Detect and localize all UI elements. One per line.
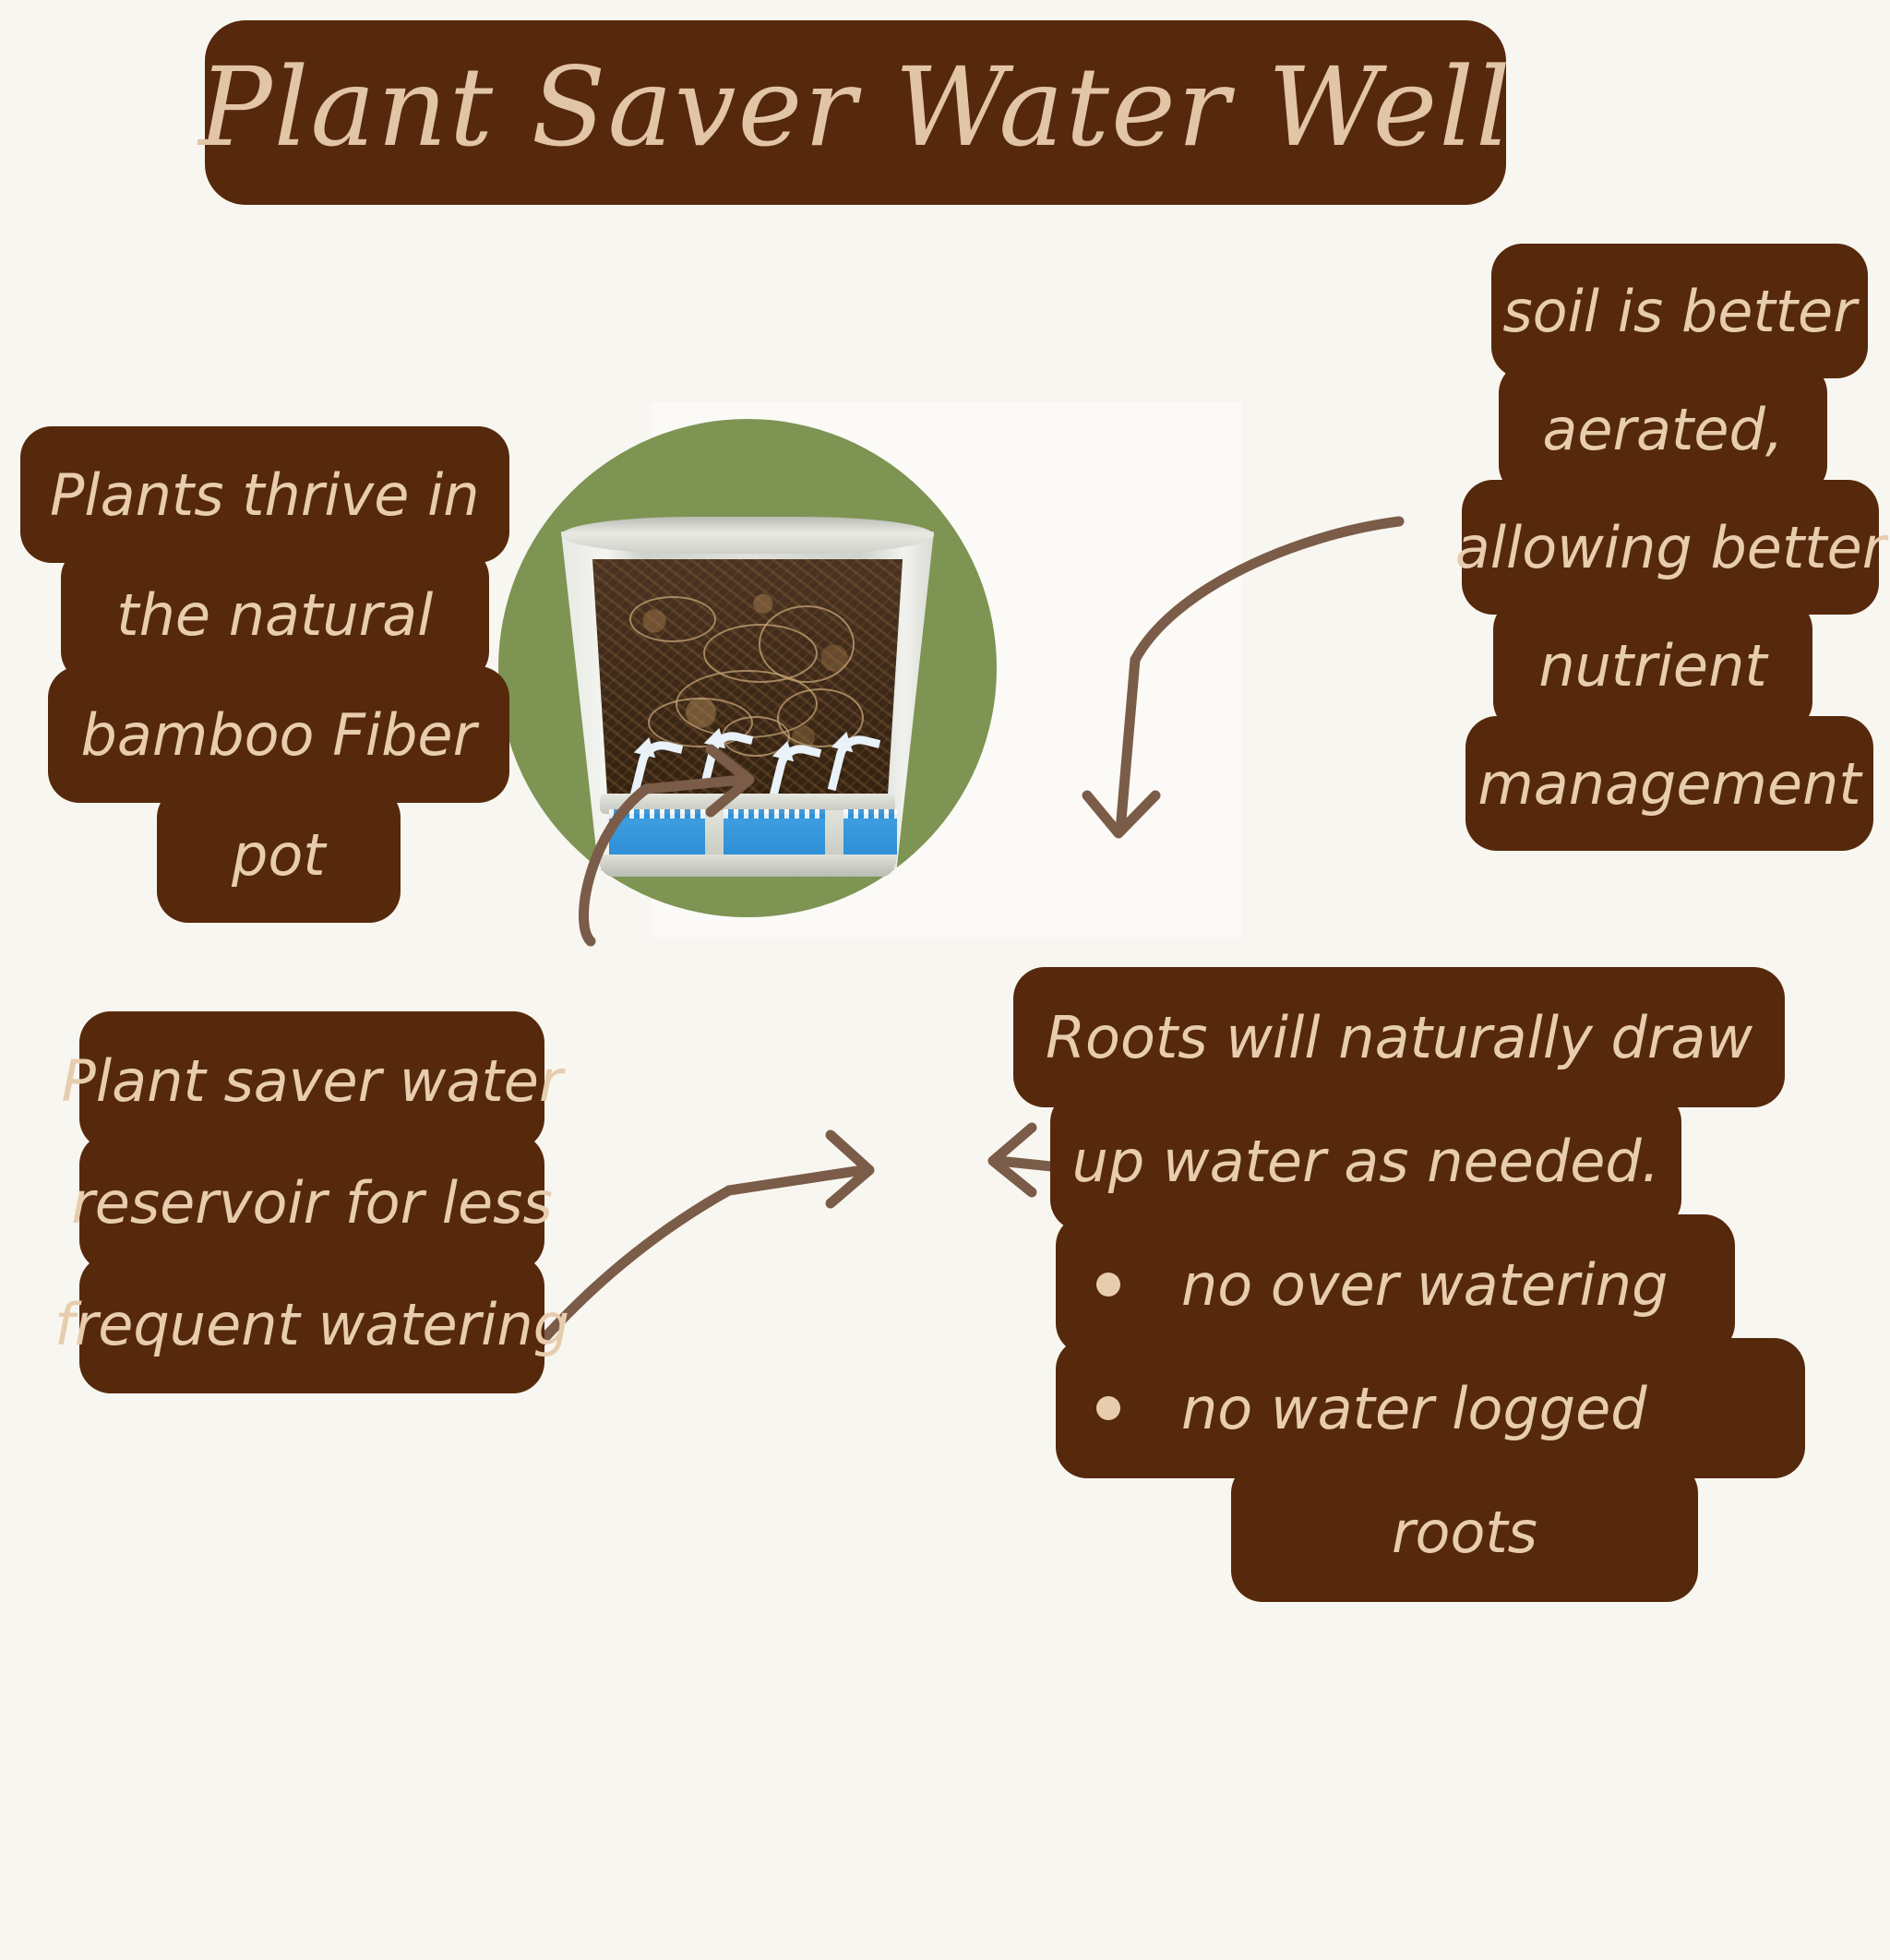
callout-line: roots [1231, 1462, 1698, 1602]
callout-bullet-item: no over watering [1056, 1214, 1735, 1355]
arrow-to-reservoir-left-head [831, 1135, 869, 1203]
root-strand [629, 596, 716, 642]
callout-line: soil is better [1491, 244, 1868, 378]
callout-line: Plants thrive in [20, 426, 509, 563]
callout-line: bamboo Fiber [48, 666, 509, 803]
soil-with-roots [592, 559, 903, 807]
callout-line: pot [157, 786, 401, 923]
callout-line: the natural [61, 546, 489, 683]
water-uptake-arrow [828, 731, 880, 798]
bullet-dot-icon [1096, 1396, 1120, 1420]
callout-roots-draw-water: Roots will naturally draw up water as ne… [1013, 967, 1805, 1602]
arrow-to-reservoir-left-shaft [729, 1170, 863, 1190]
page-title: Plant Saver Water Well [198, 53, 1513, 161]
callout-line: frequent watering [79, 1255, 544, 1393]
callout-line: up water as needed. [1050, 1091, 1681, 1231]
pot-base [598, 855, 897, 877]
callout-line: management [1465, 716, 1873, 851]
water-uptake-arrow [700, 727, 753, 795]
title-banner: Plant Saver Water Well [205, 20, 1506, 205]
callout-line: nutrient [1493, 598, 1812, 733]
callout-line: Plant saver water [79, 1011, 544, 1150]
pot-cross-section-illustration [561, 517, 934, 877]
callout-water-reservoir: Plant saver water reservoir for less fre… [79, 1011, 544, 1393]
water-reservoir-section [724, 814, 825, 856]
water-reservoir-section [609, 814, 705, 856]
callout-line: allowing better [1462, 480, 1879, 615]
callout-line: no over watering [1181, 1251, 1668, 1319]
reservoir-divider [705, 810, 724, 860]
water-reservoir-section [843, 814, 897, 856]
callout-line: Roots will naturally draw [1013, 967, 1785, 1107]
bullet-dot-icon [1096, 1273, 1120, 1297]
reservoir-divider [825, 810, 843, 860]
callout-bullet-item: no water logged [1056, 1338, 1805, 1478]
pot-rim [561, 517, 934, 554]
callout-plants-thrive: Plants thrive in the natural bamboo Fibe… [20, 426, 509, 923]
callout-soil-aeration: soil is better aerated, allowing better … [1462, 244, 1879, 851]
root-strand [759, 605, 855, 683]
callout-line: no water logged [1181, 1375, 1647, 1442]
callout-line: aerated, [1499, 362, 1827, 496]
callout-line: reservoir for less [79, 1133, 544, 1272]
